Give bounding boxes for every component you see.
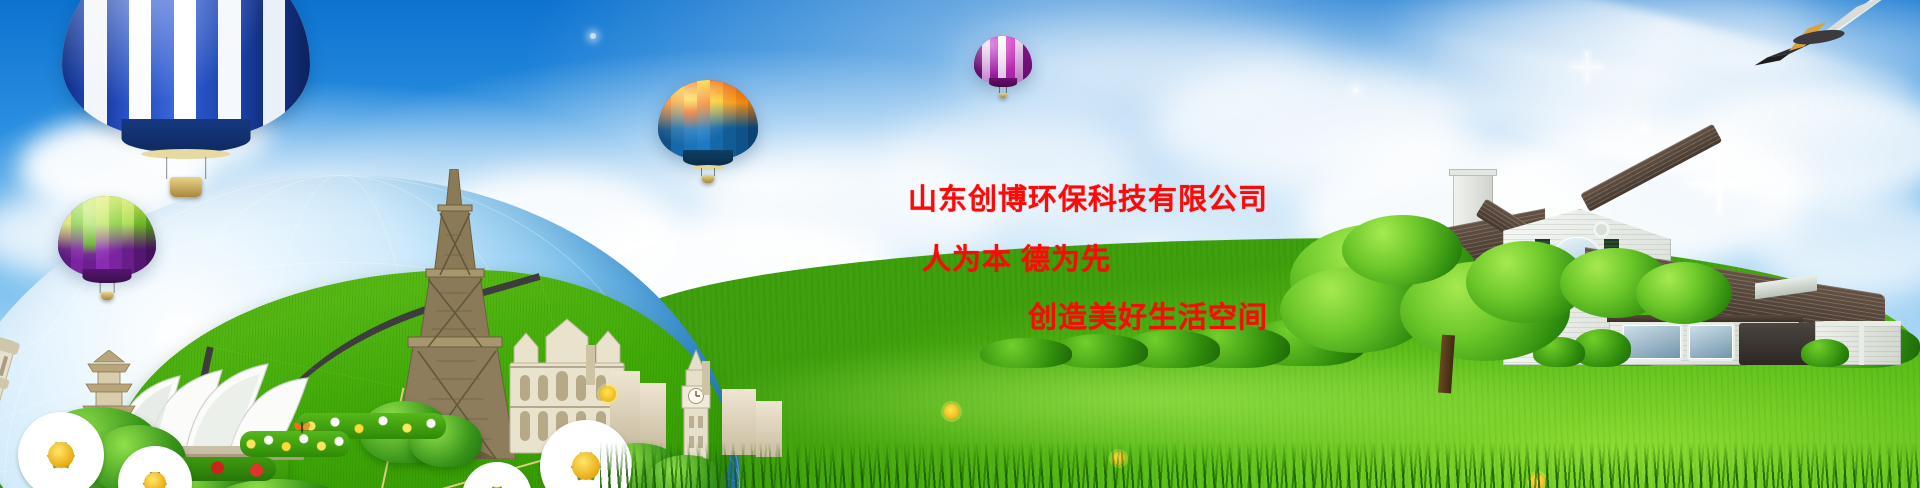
pergola-post <box>1859 325 1864 365</box>
green-purple-balloon <box>58 196 156 300</box>
large-tree <box>1280 215 1610 390</box>
motto-text: 人为本 德为先 <box>922 246 1111 275</box>
small-tree-canopy <box>1636 262 1732 324</box>
light-dot <box>1640 125 1647 132</box>
yellow-flower <box>944 404 959 419</box>
balloon-skirt <box>683 150 733 165</box>
skyline-building <box>640 383 666 449</box>
balloon-envelope <box>658 80 758 160</box>
daisy-flower <box>462 462 532 488</box>
company-name-text: 山东创博环保科技有限公司 <box>908 186 1268 215</box>
balloon-basket <box>101 292 114 300</box>
skyline-spire <box>586 345 595 385</box>
purple-magenta-balloon <box>974 36 1032 98</box>
foundation-shrub <box>1801 339 1849 367</box>
light-dot <box>590 33 596 39</box>
butterfly-icon <box>292 419 312 435</box>
light-dot <box>1353 88 1358 93</box>
grass-blades-foreground <box>600 442 1920 488</box>
porch-window <box>1623 325 1681 359</box>
balloon-envelope <box>58 196 156 277</box>
tagline-text: 创造美好生活空间 <box>1028 304 1268 333</box>
daisy-flower <box>18 412 104 488</box>
hedge-bush <box>980 338 1072 368</box>
sparkle-icon <box>1572 52 1602 82</box>
skyline-spire <box>702 361 710 395</box>
chimney-cap <box>1449 169 1497 176</box>
balloon-envelope <box>974 36 1032 84</box>
tree-trunk <box>1438 335 1455 394</box>
orange-blue-balloon <box>658 80 758 182</box>
balloon-skirt <box>122 119 251 152</box>
balloon-skirt <box>83 269 132 284</box>
yellow-flower <box>600 386 616 402</box>
company-banner: 山东创博环保科技有限公司 人为本 德为先 创造美好生活空间 <box>0 0 1920 488</box>
daisy-flower <box>118 446 192 488</box>
tree-canopy <box>1342 215 1462 285</box>
balloon-basket <box>702 175 715 183</box>
balloon-basket <box>999 93 1007 98</box>
blue-white-striped-balloon <box>62 0 310 194</box>
balloon-basket <box>170 177 202 197</box>
porch-window <box>1689 325 1733 359</box>
